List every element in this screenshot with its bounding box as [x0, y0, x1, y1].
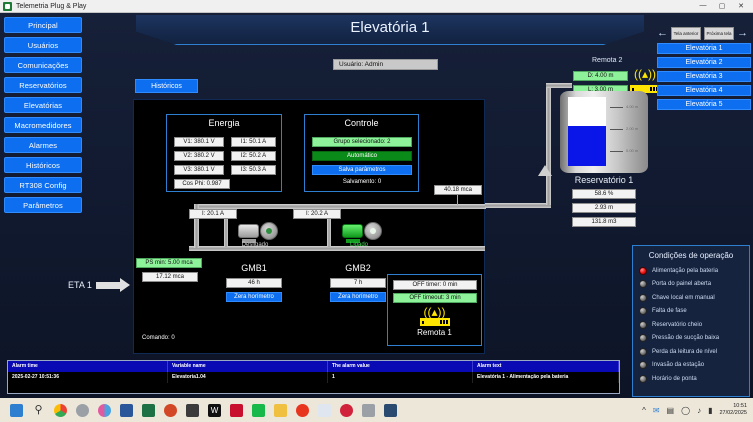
- sidebar-item-elevatorias[interactable]: Elevatórias: [4, 97, 82, 113]
- screen-button-elevatoria-4[interactable]: Elevatória 4: [657, 85, 751, 96]
- next-screen-button[interactable]: Próxima tela: [704, 27, 734, 40]
- current-i1: I1: 50.1 A: [231, 137, 276, 147]
- reservoir-name: Reservatório 1: [560, 175, 648, 185]
- tank-scale-label-mid: 2.00 m: [626, 126, 638, 131]
- remota2-name: Remota 2: [592, 57, 622, 64]
- app-icon: [3, 2, 12, 11]
- cell-alarm-text: Elevatória 1 - Alimentação pela bateria: [473, 372, 619, 383]
- excel-icon[interactable]: [142, 404, 155, 417]
- tank-scale-label-high: 4.00 m: [626, 104, 638, 109]
- conditions-title: Condições de operação: [633, 246, 749, 264]
- remota2-distance: D: 4.00 m: [573, 71, 628, 81]
- scada-app-icon[interactable]: [384, 404, 397, 417]
- table-row[interactable]: 2025-02-27 10:51:36 Elevatoria1.04 1 Ele…: [8, 372, 619, 383]
- download-icon[interactable]: [362, 404, 375, 417]
- inlet-arrow-head-icon: [120, 278, 130, 292]
- condition-label-horario-ponta: Horário de ponta: [652, 376, 697, 382]
- current-i2: I2: 50.2 A: [231, 151, 276, 161]
- opera-icon[interactable]: [296, 404, 309, 417]
- minimize-icon[interactable]: —: [699, 2, 707, 10]
- condition-row-bateria: Alimentação pela bateria: [633, 264, 749, 278]
- column-header-variable-name: Variable name: [168, 361, 328, 372]
- remota1-panel: OFF timer: 0 min OFF timeout: 3 min ((▴)…: [387, 274, 482, 346]
- condition-row-chave-manual: Chave local em manual: [633, 291, 749, 305]
- alarm-table-header: Alarm time Variable name The alarm value…: [8, 361, 619, 372]
- folder-icon[interactable]: [274, 404, 287, 417]
- clock-date: 27/02/2025: [719, 410, 747, 417]
- condition-label-falta-fase: Falta de fase: [652, 308, 687, 314]
- salvar-parametros-button[interactable]: Salva parâmetros: [312, 165, 412, 175]
- reservoir-tank: 4.00 m 2.00 m 0.00 m: [560, 91, 648, 173]
- voltage-v1: V1: 380.1 V: [174, 137, 224, 147]
- sidebar-item-rt308-config[interactable]: RT308 Config: [4, 177, 82, 193]
- status-lamp-chave-manual: [639, 294, 647, 302]
- reservoir-percent: 58.6 %: [572, 189, 636, 199]
- wifi-icon[interactable]: ◯: [681, 406, 690, 415]
- condition-label-chave-manual: Chave local em manual: [652, 295, 715, 301]
- bluetooth-icon[interactable]: ✉: [653, 406, 660, 415]
- grupo-selecionado: Grupo selecionado: 2: [312, 137, 412, 147]
- tank-scale-label-low: 0.00 m: [626, 148, 638, 153]
- mimic-diagram: Energia V1: 380.1 V V2: 380.2 V V3: 380.…: [133, 99, 485, 354]
- historicos-button[interactable]: Históricos: [135, 79, 198, 93]
- column-header-alarm-time: Alarm time: [8, 361, 168, 372]
- remota1-wifi-icon: ((▴)): [388, 307, 481, 318]
- suction-pressure-value: 17.12 mca: [142, 272, 198, 282]
- column-header-alarm-text: Alarm text: [473, 361, 619, 372]
- condition-label-perda-nivel: Perda da leitura de nível: [652, 349, 717, 355]
- notepad-icon[interactable]: [318, 404, 331, 417]
- sidebar-item-alarmes[interactable]: Alarmes: [4, 137, 82, 153]
- status-lamp-invasao: [639, 361, 647, 369]
- controle-panel: Controle Grupo selecionado: 2 Automático…: [304, 114, 419, 192]
- sidebar-item-usuarios[interactable]: Usuários: [4, 37, 82, 53]
- user-display: Usuário: Admin: [333, 59, 438, 70]
- voltage-v2: V2: 380.2 V: [174, 151, 224, 161]
- pdf-reader-icon[interactable]: [230, 404, 243, 417]
- controle-title: Controle: [305, 115, 418, 128]
- close-icon[interactable]: ✕: [737, 2, 745, 10]
- pressure-tap-line: [457, 195, 458, 205]
- sidebar-item-comunicacoes[interactable]: Comunicações: [4, 57, 82, 73]
- tank-inlet-pipe: [546, 83, 572, 88]
- tank-tick-low: [610, 151, 623, 152]
- prev-screen-label: Tela anterior: [674, 31, 699, 36]
- page-banner: Elevatória 1: [136, 15, 644, 45]
- operating-conditions-panel: Condições de operação Alimentação pela b…: [632, 245, 750, 397]
- remota2-wifi-icon: ((▴)): [632, 69, 658, 80]
- application-window: Telemetria Plug & Play — ▢ ✕ Principal U…: [0, 0, 753, 422]
- condition-row-porta: Porta do painel aberta: [633, 278, 749, 292]
- status-lamp-falta-fase: [639, 307, 647, 315]
- condition-row-invasao: Invasão da estação: [633, 359, 749, 373]
- tank-tick-high: [610, 107, 623, 108]
- modo-operacao[interactable]: Automático: [312, 151, 412, 161]
- cell-alarm-time: 2025-02-27 10:51:36: [8, 372, 168, 383]
- powerpoint-icon[interactable]: [164, 404, 177, 417]
- next-arrow-icon[interactable]: →: [737, 28, 748, 39]
- screen-button-elevatoria-3[interactable]: Elevatória 3: [657, 71, 751, 82]
- sidebar-item-macromedidores[interactable]: Macromedidores: [4, 117, 82, 133]
- word-icon[interactable]: [120, 404, 133, 417]
- reservoir-level-meters: 2.93 m: [572, 203, 636, 213]
- taskbar-clock[interactable]: 10:51 27/02/2025: [719, 403, 747, 417]
- status-lamp-reservatorio-cheio: [639, 321, 647, 329]
- sidebar: Principal Usuários Comunicações Reservat…: [4, 17, 82, 217]
- eta-label: ETA 1: [68, 280, 92, 290]
- pump2-reset-button[interactable]: Zera horímetro: [330, 292, 386, 302]
- record-app-icon[interactable]: [340, 404, 353, 417]
- sidebar-item-reservatorios[interactable]: Reservatórios: [4, 77, 82, 93]
- pump1-reset-button[interactable]: Zera horímetro: [226, 292, 282, 302]
- condition-row-perda-nivel: Perda da leitura de nível: [633, 345, 749, 359]
- volume-icon[interactable]: ♪: [697, 406, 701, 415]
- search-icon[interactable]: ⚲: [32, 404, 45, 417]
- prev-arrow-icon[interactable]: ←: [657, 28, 668, 39]
- current-i3: I3: 50.3 A: [231, 165, 276, 175]
- printer-icon[interactable]: ▤: [667, 406, 675, 415]
- status-lamp-perda-nivel: [639, 348, 647, 356]
- column-header-alarm-value: The alarm value: [328, 361, 473, 372]
- inlet-arrow-icon: [96, 282, 122, 289]
- alarm-table[interactable]: Alarm time Variable name The alarm value…: [7, 360, 620, 394]
- pump1-state: Desligado: [232, 242, 278, 248]
- system-tray: ^ ✉ ▤ ◯ ♪ ▮ 10:51 27/02/2025: [642, 403, 753, 417]
- pump1-current: I: 20.1 A: [189, 209, 237, 219]
- misc-app-icon[interactable]: [186, 404, 199, 417]
- pump2-state: Ligado: [336, 242, 382, 248]
- condition-row-reservatorio-cheio: Reservatório cheio: [633, 318, 749, 332]
- comando-counter: Comando: 0: [142, 335, 175, 341]
- tray-expand-icon[interactable]: ^: [642, 406, 646, 415]
- energia-panel: Energia V1: 380.1 V V2: 380.2 V V3: 380.…: [166, 114, 282, 192]
- pump2-impeller-icon: [364, 222, 382, 240]
- window-controls: — ▢ ✕: [699, 2, 750, 10]
- condition-label-invasao: Invasão da estação: [652, 362, 704, 368]
- status-lamp-horario-ponta: [639, 375, 647, 383]
- clock-time: 10:51: [719, 403, 747, 410]
- condition-row-falta-fase: Falta de fase: [633, 305, 749, 319]
- nav-top-row: ← Tela anterior Próxima tela →: [657, 27, 751, 40]
- sidebar-item-historicos[interactable]: Históricos: [4, 157, 82, 173]
- tank-empty-volume: [568, 97, 606, 126]
- sidebar-item-parametros[interactable]: Parâmetros: [4, 197, 82, 213]
- chrome-icon[interactable]: [54, 404, 67, 417]
- condition-label-bateria: Alimentação pela bateria: [652, 268, 718, 274]
- suction-pressure-min: PS min: 5.00 mca: [136, 258, 202, 268]
- remota1-off-timeout: OFF timeout: 3 min: [393, 293, 477, 303]
- discharge-pressure-value: 40.18 mca: [434, 185, 482, 195]
- page-title: Elevatória 1: [136, 15, 644, 41]
- tank-liquid-level: [568, 126, 606, 166]
- screen-button-elevatoria-5[interactable]: Elevatória 5: [657, 99, 751, 110]
- main-body: Principal Usuários Comunicações Reservat…: [0, 13, 753, 398]
- pump2-hourmeter: 7 h: [330, 278, 386, 288]
- window-titlebar: Telemetria Plug & Play — ▢ ✕: [0, 0, 753, 13]
- pump1-impeller-icon: [260, 222, 278, 240]
- battery-icon[interactable]: ▮: [708, 406, 712, 415]
- condition-label-pressao-succao: Pressão de sucção baixa: [652, 335, 719, 341]
- cell-variable-name: Elevatoria1.04: [168, 372, 328, 383]
- remota1-router-icon: [420, 318, 450, 326]
- status-lamp-pressao-succao: [639, 334, 647, 342]
- voltage-v3: V3: 380.1 V: [174, 165, 224, 175]
- sidebar-item-principal[interactable]: Principal: [4, 17, 82, 33]
- screen-navigation: ← Tela anterior Próxima tela → Elevatóri…: [657, 27, 751, 110]
- start-icon[interactable]: [10, 404, 23, 417]
- paint-icon[interactable]: [98, 404, 111, 417]
- energia-title: Energia: [167, 115, 281, 128]
- taskbar-apps: ⚲ W: [0, 404, 397, 417]
- next-screen-label: Próxima tela: [706, 31, 731, 36]
- salvamento-counter: Salvamento: 0: [312, 179, 412, 185]
- status-lamp-bateria: [639, 267, 647, 275]
- maximize-icon[interactable]: ▢: [718, 2, 726, 10]
- condition-row-pressao-succao: Pressão de sucção baixa: [633, 332, 749, 346]
- pump2-current: I: 20.2 A: [293, 209, 341, 219]
- screen-button-elevatoria-1[interactable]: Elevatória 1: [657, 43, 751, 54]
- status-lamp-porta: [639, 280, 647, 288]
- winrar-icon[interactable]: W: [208, 404, 221, 417]
- settings-gear-icon[interactable]: [76, 404, 89, 417]
- outlet-pipe-vertical: [546, 83, 551, 205]
- pump1-name: GMB1: [219, 263, 289, 273]
- pump1-hourmeter: 46 h: [226, 278, 282, 288]
- screen-button-elevatoria-2[interactable]: Elevatória 2: [657, 57, 751, 68]
- remota1-off-timer: OFF timer: 0 min: [393, 280, 477, 290]
- cos-phi: Cos Phi: 0.987: [174, 179, 230, 189]
- window-title: Telemetria Plug & Play: [16, 3, 86, 10]
- pump2-name: GMB2: [323, 263, 393, 273]
- flow-direction-arrow-icon: [538, 165, 552, 176]
- remota1-name: Remota 1: [388, 328, 481, 337]
- tank-tick-mid: [610, 129, 623, 130]
- condition-row-horario-ponta: Horário de ponta: [633, 372, 749, 386]
- reservoir-volume: 131.8 m3: [572, 217, 636, 227]
- green-app-icon[interactable]: [252, 404, 265, 417]
- prev-screen-button[interactable]: Tela anterior: [671, 27, 701, 40]
- cell-alarm-value: 1: [328, 372, 473, 383]
- condition-label-reservatorio-cheio: Reservatório cheio: [652, 322, 702, 328]
- windows-taskbar: ⚲ W ^ ✉ ▤ ◯ ♪ ▮ 10:51: [0, 398, 753, 422]
- condition-label-porta: Porta do painel aberta: [652, 281, 711, 287]
- outlet-pipe-horizontal: [485, 203, 551, 208]
